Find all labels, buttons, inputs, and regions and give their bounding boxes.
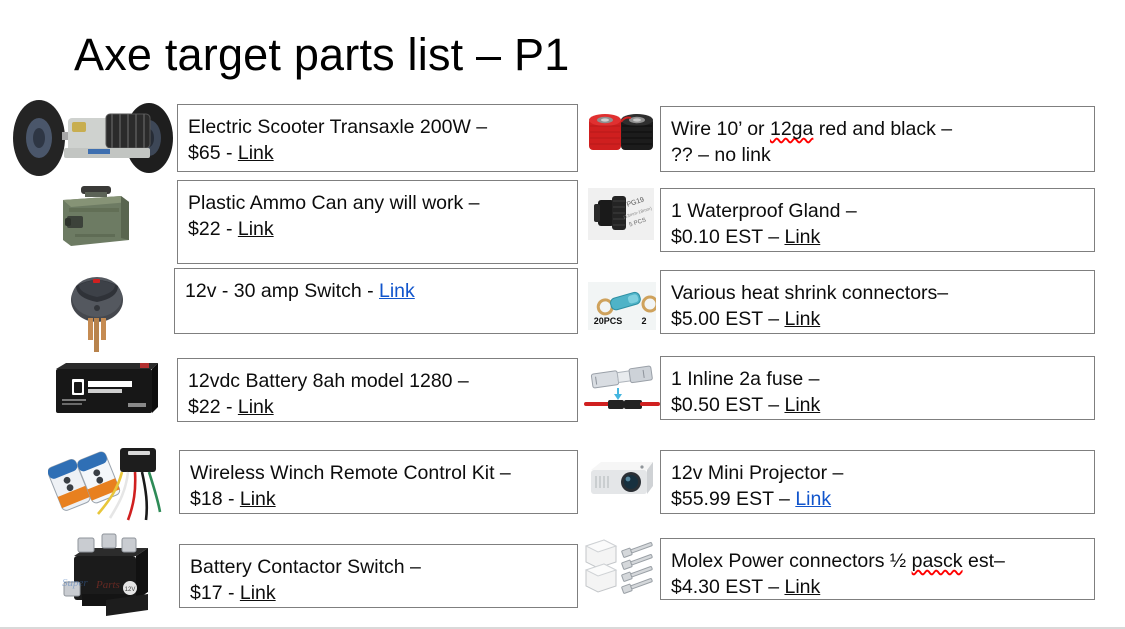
- parts-item-box-ammo-can[interactable]: Plastic Ammo Can any will work – $22 - L…: [177, 180, 578, 264]
- parts-item-box-molex[interactable]: Molex Power connectors ½ pasck est– $4.3…: [660, 538, 1095, 600]
- item-title: Molex Power connectors ½ pasck est–: [671, 548, 1094, 574]
- item-price: $5.00 EST –: [671, 308, 784, 330]
- waterproof-cable-gland-photo: PG19 (13mm-18mm) 5 PCS: [588, 188, 654, 240]
- plastic-ammo-can-photo: [55, 182, 135, 252]
- svg-text:Super: Super: [62, 577, 88, 589]
- item-price-line: $65 - Link: [188, 140, 577, 166]
- item-price: $4.30 EST –: [671, 576, 784, 598]
- item-title: Plastic Ammo Can any will work –: [188, 190, 577, 216]
- parts-item-box-projector[interactable]: 12v Mini Projector – $55.99 EST – Link: [660, 450, 1095, 514]
- item-title-part-b: est–: [963, 550, 1005, 572]
- item-price-line: $4.30 EST – Link: [671, 574, 1094, 600]
- item-price-line: $0.10 EST – Link: [671, 224, 1094, 250]
- heat-shrink-count-text: 20PCS: [594, 316, 623, 326]
- heat-shrink-connectors-photo: 20PCS 2: [588, 282, 656, 330]
- item-link[interactable]: Link: [240, 582, 276, 604]
- wireless-winch-remote-photo: [48, 442, 168, 524]
- item-title-misspelled: pasck: [912, 550, 963, 572]
- item-title: 12v - 30 amp Switch - Link: [185, 278, 577, 304]
- page-title: Axe target parts list – P1: [74, 26, 569, 84]
- electric-scooter-transaxle-photo: [6, 96, 176, 180]
- parts-item-box-winch-remote[interactable]: Wireless Winch Remote Control Kit – $18 …: [179, 450, 578, 514]
- item-title-misspelled: 12ga: [770, 118, 813, 140]
- item-link[interactable]: Link: [238, 142, 274, 164]
- inline-fuse-holder-photo: [584, 362, 660, 418]
- item-price-line: $18 - Link: [190, 486, 577, 512]
- item-link[interactable]: Link: [784, 576, 820, 598]
- molex-power-connectors-photo: [582, 536, 660, 598]
- parts-item-box-gland[interactable]: 1 Waterproof Gland – $0.10 EST – Link: [660, 188, 1095, 252]
- item-title: Wireless Winch Remote Control Kit –: [190, 460, 577, 486]
- sealed-lead-acid-battery-photo: [52, 357, 160, 419]
- parts-item-box-switch[interactable]: 12v - 30 amp Switch - Link: [174, 268, 578, 334]
- parts-item-box-fuse[interactable]: 1 Inline 2a fuse – $0.50 EST – Link: [660, 356, 1095, 420]
- battery-contactor-switch-photo: 12V Super Parts: [52, 530, 164, 622]
- item-price-line: $5.00 EST – Link: [671, 306, 1094, 332]
- item-link[interactable]: Link: [240, 488, 276, 510]
- item-price: $22 -: [188, 218, 238, 240]
- item-price-line: $22 - Link: [188, 394, 577, 420]
- item-title-part-a: Wire 10’ or: [671, 118, 770, 140]
- item-title: Wire 10’ or 12ga red and black –: [671, 116, 1094, 142]
- item-title: Battery Contactor Switch –: [190, 554, 577, 580]
- mini-projector-photo: [585, 452, 659, 504]
- item-price: $18 -: [190, 488, 240, 510]
- item-price-line: $55.99 EST – Link: [671, 486, 1094, 512]
- item-title: 1 Inline 2a fuse –: [671, 366, 1094, 392]
- item-title: 1 Waterproof Gland –: [671, 198, 1094, 224]
- item-link[interactable]: Link: [784, 394, 820, 416]
- item-link[interactable]: Link: [238, 218, 274, 240]
- parts-item-box-contactor[interactable]: Battery Contactor Switch – $17 - Link: [179, 544, 578, 608]
- item-price: $0.50 EST –: [671, 394, 784, 416]
- item-link[interactable]: Link: [238, 396, 274, 418]
- parts-item-box-transaxle[interactable]: Electric Scooter Transaxle 200W – $65 - …: [177, 104, 578, 172]
- item-link[interactable]: Link: [795, 488, 831, 510]
- item-title: 12v Mini Projector –: [671, 460, 1094, 486]
- rocker-switch-photo: [60, 268, 134, 354]
- item-title: Electric Scooter Transaxle 200W –: [188, 114, 577, 140]
- item-price: $22 -: [188, 396, 238, 418]
- svg-text:12V: 12V: [125, 587, 136, 593]
- item-price-line: $0.50 EST – Link: [671, 392, 1094, 418]
- item-title-part-b: red and black –: [813, 118, 952, 140]
- parts-item-box-heat-shrink[interactable]: Various heat shrink connectors– $5.00 ES…: [660, 270, 1095, 334]
- item-price-line: $17 - Link: [190, 580, 577, 606]
- svg-text:2: 2: [641, 316, 646, 326]
- item-title: Various heat shrink connectors–: [671, 280, 1094, 306]
- item-link[interactable]: Link: [784, 308, 820, 330]
- item-price: $17 -: [190, 582, 240, 604]
- parts-item-box-wire[interactable]: Wire 10’ or 12ga red and black – ?? – no…: [660, 106, 1095, 172]
- item-title-text: 12v - 30 amp Switch -: [185, 280, 379, 302]
- red-black-wire-spools-photo: [585, 108, 657, 156]
- item-price: $55.99 EST –: [671, 488, 795, 510]
- item-price: $0.10 EST –: [671, 226, 784, 248]
- item-title: 12vdc Battery 8ah model 1280 –: [188, 368, 577, 394]
- item-price: $65 -: [188, 142, 238, 164]
- parts-item-box-battery[interactable]: 12vdc Battery 8ah model 1280 – $22 - Lin…: [177, 358, 578, 422]
- slide-canvas: Axe target parts list – P1: [0, 0, 1125, 629]
- item-title-part-a: Molex Power connectors ½: [671, 550, 912, 572]
- svg-text:Parts: Parts: [95, 579, 120, 591]
- item-link[interactable]: Link: [379, 280, 415, 302]
- item-link[interactable]: Link: [784, 226, 820, 248]
- item-price-line: $22 - Link: [188, 216, 577, 242]
- item-price-line: ?? – no link: [671, 142, 1094, 168]
